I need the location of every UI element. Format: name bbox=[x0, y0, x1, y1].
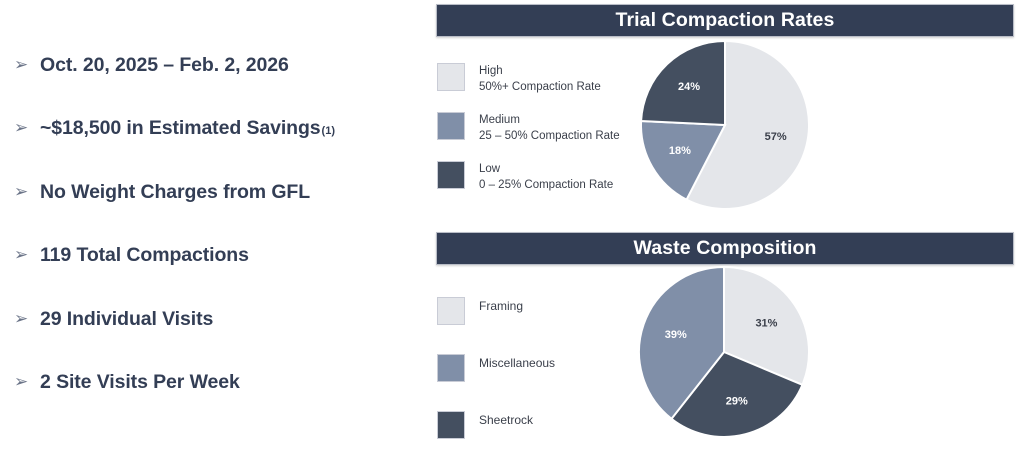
pie-chart-trial: 57%18%24% bbox=[436, 37, 836, 227]
arrowhead-bullet-icon: ➢ bbox=[14, 183, 40, 200]
pie-slice-label: 18% bbox=[669, 145, 691, 157]
arrowhead-bullet-icon: ➢ bbox=[14, 246, 40, 263]
bullet-label: 2 Site Visits Per Week bbox=[40, 371, 240, 394]
pie-chart-svg: 57%18%24% bbox=[436, 37, 836, 227]
chart-title: Waste Composition bbox=[634, 237, 817, 260]
pie-chart-waste: 31%29%39% bbox=[436, 265, 836, 455]
pie-slice-label: 57% bbox=[765, 131, 787, 143]
arrowhead-bullet-icon: ➢ bbox=[14, 56, 40, 73]
bullet-item: ➢ 29 Individual Visits bbox=[14, 308, 214, 331]
chart-trial-compaction-rates: Trial Compaction Rates High 50%+ Compact… bbox=[436, 4, 1014, 227]
bullet-item: ➢ No Weight Charges from GFL bbox=[14, 181, 311, 204]
arrowhead-bullet-icon: ➢ bbox=[14, 373, 40, 390]
chart-title-bar: Waste Composition bbox=[436, 232, 1014, 265]
key-metrics-bullet-list: ➢ Oct. 20, 2025 – Feb. 2, 2026 ➢ ~$18,50… bbox=[0, 0, 430, 462]
chart-body: High 50%+ Compaction Rate Medium 25 – 50… bbox=[436, 37, 1014, 227]
bullet-label: 29 Individual Visits bbox=[40, 308, 213, 331]
bullet-superscript: (1) bbox=[322, 125, 335, 137]
arrowhead-bullet-icon: ➢ bbox=[14, 310, 40, 327]
chart-title: Trial Compaction Rates bbox=[616, 9, 835, 32]
pie-slice-label: 39% bbox=[665, 329, 687, 341]
chart-body: Framing Miscellaneous Sheetrock 31%29%39… bbox=[436, 265, 1014, 455]
bullet-label: Oct. 20, 2025 – Feb. 2, 2026 bbox=[40, 54, 289, 77]
bullet-label: 119 Total Compactions bbox=[40, 244, 249, 267]
bullet-item: ➢ Oct. 20, 2025 – Feb. 2, 2026 bbox=[14, 54, 290, 77]
chart-title-bar: Trial Compaction Rates bbox=[436, 4, 1014, 37]
chart-waste-composition: Waste Composition Framing Miscellaneous … bbox=[436, 232, 1014, 455]
bullet-item: ➢ 119 Total Compactions bbox=[14, 244, 250, 267]
bullet-item: ➢ ~$18,500 in Estimated Savings(1) bbox=[14, 117, 335, 140]
pie-slice-label: 31% bbox=[755, 318, 777, 330]
bullet-item: ➢ 2 Site Visits Per Week bbox=[14, 371, 241, 394]
pie-slice-label: 24% bbox=[678, 81, 700, 93]
pie-chart-svg: 31%29%39% bbox=[436, 265, 836, 455]
bullet-label: No Weight Charges from GFL bbox=[40, 181, 310, 204]
arrowhead-bullet-icon: ➢ bbox=[14, 119, 40, 136]
pie-slice-label: 29% bbox=[726, 395, 748, 407]
bullet-label: ~$18,500 in Estimated Savings bbox=[40, 117, 321, 140]
